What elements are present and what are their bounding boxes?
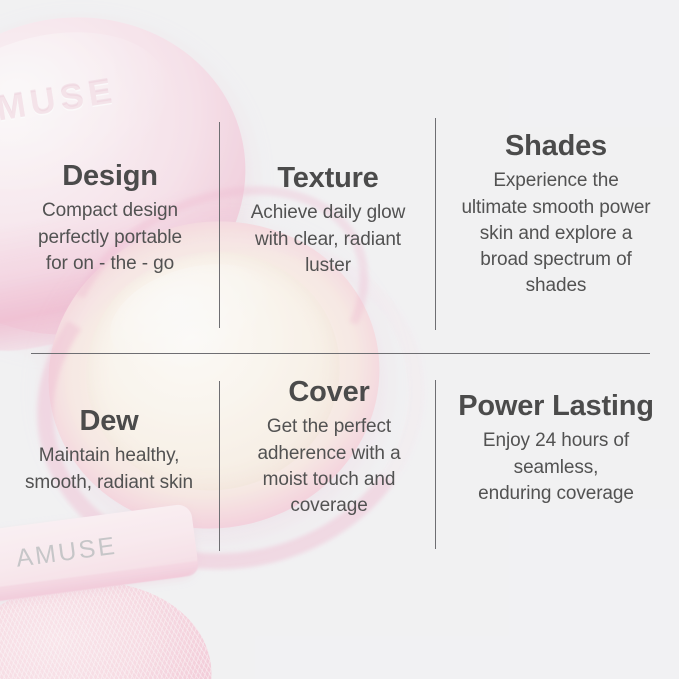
feature-shades: Shades Experience the ultimate smooth po…: [443, 130, 669, 300]
feature-dew-title: Dew: [4, 405, 214, 437]
feature-design-description: Compact design perfectly portable for on…: [6, 198, 214, 277]
feature-design: Design Compact design perfectly portable…: [6, 160, 214, 277]
feature-shades-description: Experience the ultimate smooth power ski…: [443, 168, 669, 299]
feature-shades-title: Shades: [443, 130, 669, 162]
feature-cover-title: Cover: [228, 376, 430, 408]
feature-texture: Texture Achieve daily glow with clear, r…: [228, 162, 428, 279]
feature-power-lasting-description: Enjoy 24 hours of seamless, enduring cov…: [440, 428, 672, 507]
feature-dew: Dew Maintain healthy, smooth, radiant sk…: [4, 405, 214, 496]
feature-cover-description: Get the perfect adherence with a moist t…: [228, 414, 430, 519]
feature-design-title: Design: [6, 160, 214, 192]
feature-dew-description: Maintain healthy, smooth, radiant skin: [4, 443, 214, 495]
feature-power-lasting-title: Power Lasting: [440, 390, 672, 422]
feature-cover: Cover Get the perfect adherence with a m…: [228, 376, 430, 519]
feature-texture-description: Achieve daily glow with clear, radiant l…: [228, 200, 428, 279]
feature-power-lasting: Power Lasting Enjoy 24 hours of seamless…: [440, 390, 672, 507]
feature-grid: Design Compact design perfectly portable…: [0, 0, 679, 679]
feature-texture-title: Texture: [228, 162, 428, 194]
product-feature-graphic: AMUSE AMUSE Design Compact design perfec…: [0, 0, 679, 679]
